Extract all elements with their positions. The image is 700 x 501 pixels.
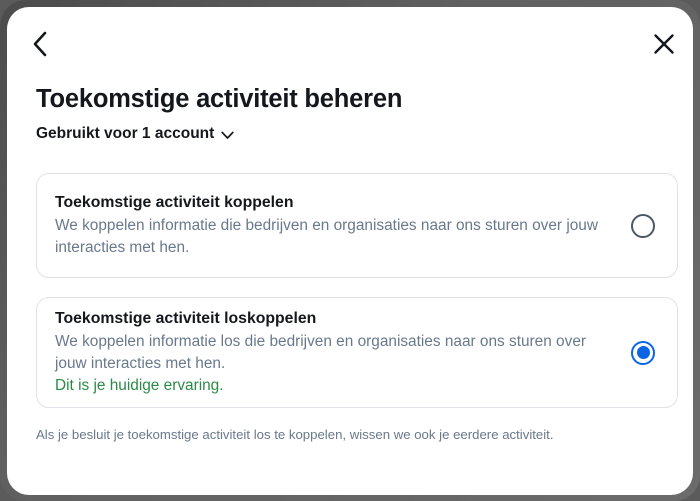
account-scope-selector[interactable]: Gebruikt voor 1 account xyxy=(36,124,234,144)
page-title: Toekomstige activiteit beheren xyxy=(36,83,656,115)
option-card-unlink-future-activity[interactable]: Toekomstige activiteit loskoppelen We ko… xyxy=(36,297,678,408)
option-title: Toekomstige activiteit koppelen xyxy=(55,192,615,213)
option-text-column: Toekomstige activiteit koppelen We koppe… xyxy=(55,192,631,259)
close-icon xyxy=(653,33,675,55)
option-text-column: Toekomstige activiteit loskoppelen We ko… xyxy=(55,308,631,397)
option-description: We koppelen informatie die bedrijven en … xyxy=(55,215,615,259)
radio-unselected-icon[interactable] xyxy=(631,214,655,238)
option-title: Toekomstige activiteit loskoppelen xyxy=(55,308,615,329)
header-block: Toekomstige activiteit beheren Gebruikt … xyxy=(36,83,656,144)
back-button[interactable] xyxy=(19,24,59,64)
dialog-surface: Toekomstige activiteit beheren Gebruikt … xyxy=(7,7,693,495)
option-current-state-note: Dit is je huidige ervaring. xyxy=(55,375,615,397)
account-scope-label: Gebruikt voor 1 account xyxy=(36,124,214,144)
option-card-link-future-activity[interactable]: Toekomstige activiteit koppelen We koppe… xyxy=(36,173,678,278)
window-frame: Toekomstige activiteit beheren Gebruikt … xyxy=(0,0,700,501)
radio-selected-icon[interactable] xyxy=(631,341,655,365)
chevron-left-icon xyxy=(31,30,48,58)
chevron-down-icon xyxy=(221,131,234,140)
close-button[interactable] xyxy=(644,24,684,64)
option-description: We koppelen informatie los die bedrijven… xyxy=(55,331,615,375)
footer-disclaimer: Als je besluit je toekomstige activiteit… xyxy=(36,426,676,444)
dialog-topbar xyxy=(7,7,693,69)
